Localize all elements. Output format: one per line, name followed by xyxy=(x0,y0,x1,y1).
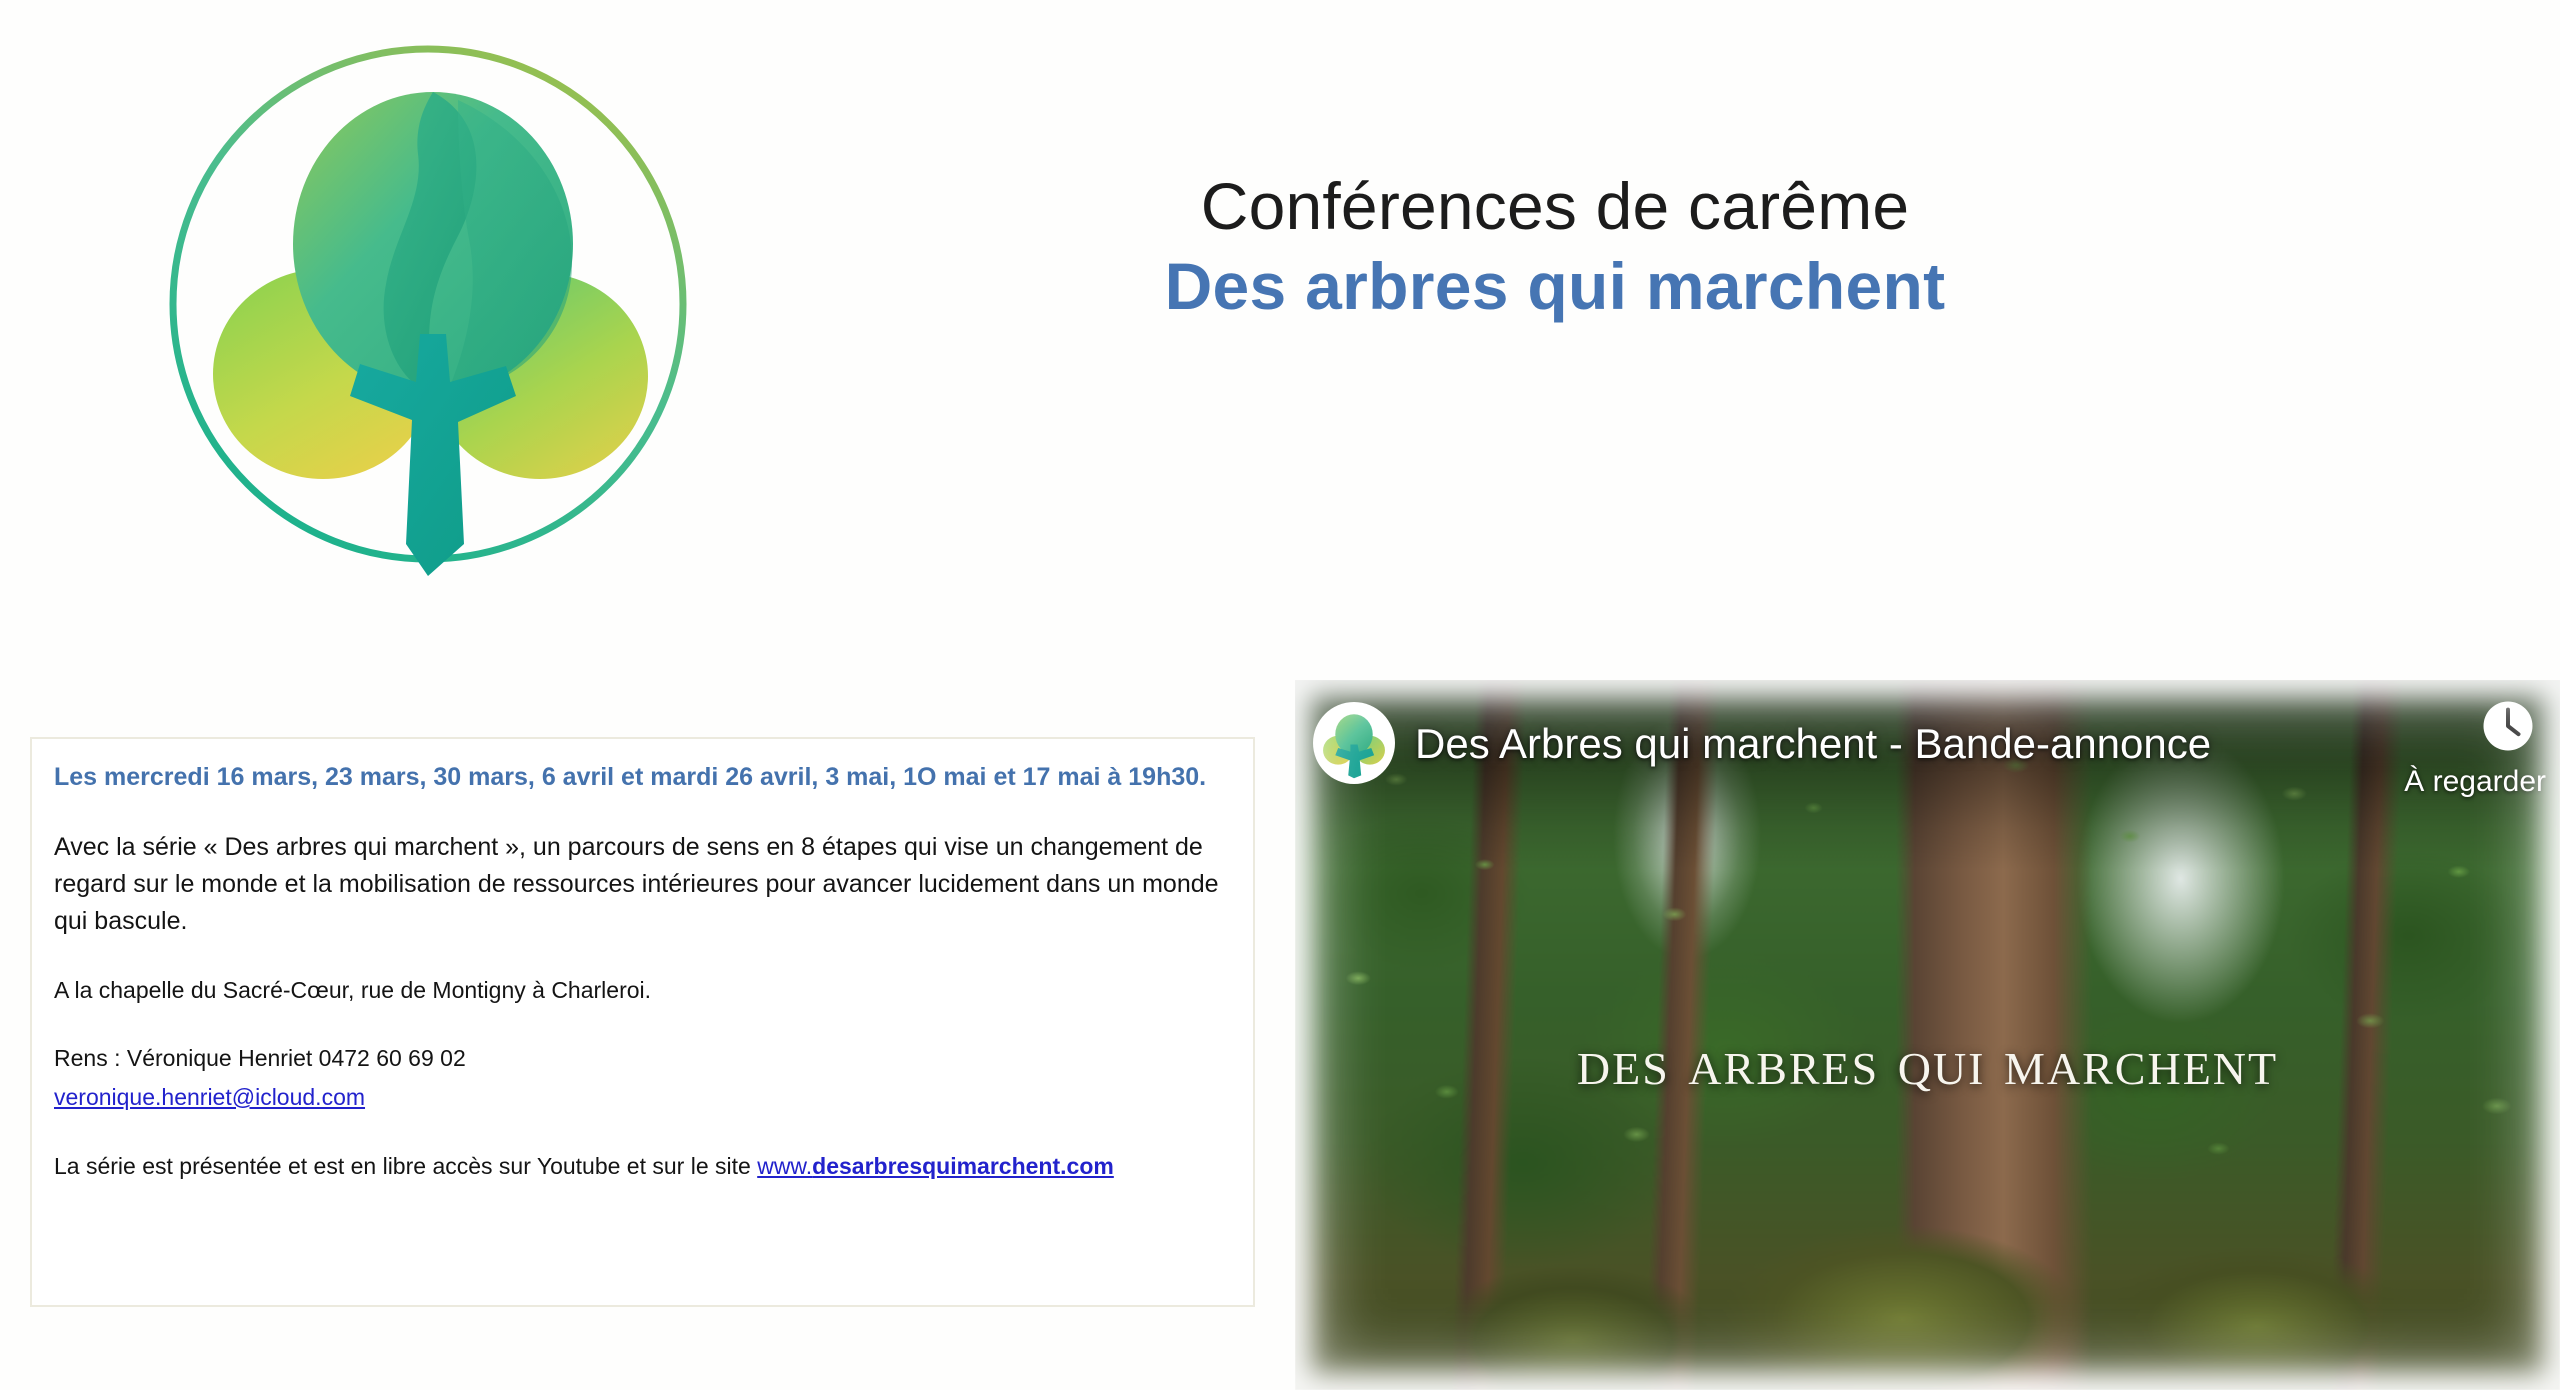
event-location: A la chapelle du Sacré-Cœur, rue de Mont… xyxy=(54,974,1225,1007)
video-overlay-title: Des Arbres qui marchent xyxy=(1295,1025,2560,1101)
page-banner: Conférences de carême Des arbres qui mar… xyxy=(0,0,2560,640)
website-link-domain: desarbresquimarchent.com xyxy=(812,1153,1114,1179)
banner-title-block: Conférences de carême Des arbres qui mar… xyxy=(1095,170,2015,324)
event-description: Avec la série « Des arbres qui marchent … xyxy=(54,829,1225,940)
video-thumbnail-card[interactable]: Des Arbres qui marchent - Bande-annonce … xyxy=(1295,680,2560,1390)
watch-later-control[interactable]: À regarder xyxy=(2316,698,2546,799)
banner-title-secondary: Des arbres qui marchent xyxy=(1095,250,2015,324)
event-info-panel: Les mercredi 16 mars, 23 mars, 30 mars, … xyxy=(30,737,1255,1307)
brand-logo xyxy=(128,4,728,604)
website-link-prefix: www. xyxy=(757,1153,812,1179)
contact-email-link[interactable]: veronique.henriet@icloud.com xyxy=(54,1081,365,1114)
event-footer: La série est présentée et est en libre a… xyxy=(54,1150,1225,1183)
event-dates: Les mercredi 16 mars, 23 mars, 30 mars, … xyxy=(54,759,1225,795)
event-contact: Rens : Véronique Henriet 0472 60 69 02 xyxy=(54,1042,1225,1075)
tree-logo-avatar-icon xyxy=(1318,707,1390,779)
video-title[interactable]: Des Arbres qui marchent - Bande-annonce xyxy=(1415,720,2211,768)
channel-avatar[interactable] xyxy=(1313,702,1395,784)
banner-title-primary: Conférences de carême xyxy=(1095,170,2015,244)
watch-later-label: À regarder xyxy=(2316,765,2546,799)
clock-icon[interactable] xyxy=(2480,698,2536,754)
event-footer-prefix: La série est présentée et est en libre a… xyxy=(54,1153,757,1179)
tree-logo-icon xyxy=(128,4,728,604)
website-link[interactable]: www.desarbresquimarchent.com xyxy=(757,1153,1114,1179)
